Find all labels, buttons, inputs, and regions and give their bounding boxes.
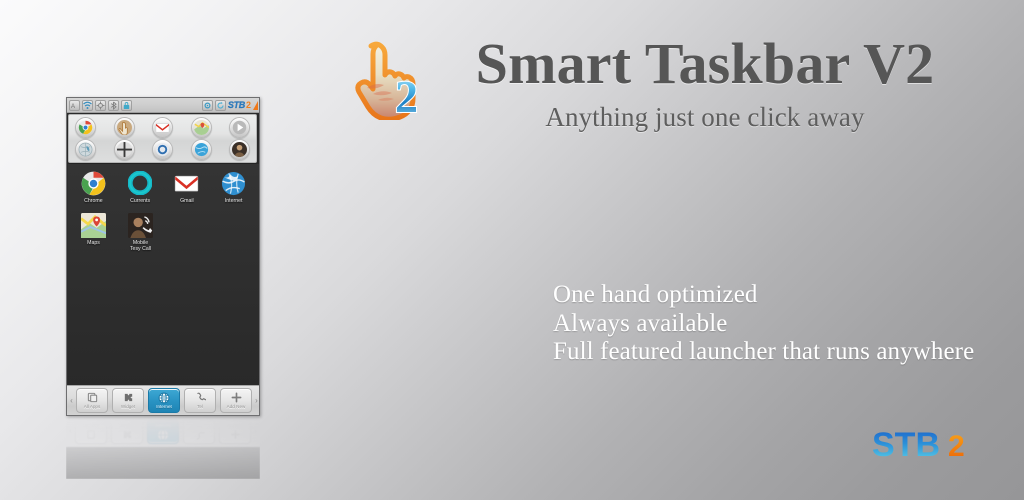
- internet-dock-button[interactable]: Internet: [148, 388, 180, 413]
- browser-icon[interactable]: [75, 139, 96, 160]
- reflection-arrow: ›: [252, 428, 259, 437]
- currents-app[interactable]: Currents: [117, 170, 164, 204]
- reflection-icon: [230, 429, 241, 442]
- feature-item: One hand optimized: [553, 281, 1013, 310]
- status-bar-left-icons: A: [69, 100, 132, 111]
- triangle-icon: [253, 101, 258, 110]
- app-label: Gmail: [180, 198, 194, 204]
- reflection-body: [66, 447, 260, 479]
- crosshair-icon[interactable]: [114, 139, 135, 160]
- dock-label: All Apps: [84, 404, 101, 410]
- contact-photo-icon[interactable]: [229, 139, 250, 160]
- promo-banner: 2 Smart Taskbar V2 Anything just one cli…: [0, 0, 1024, 500]
- smart-taskbar-panel: [68, 114, 257, 163]
- gmail-app-icon: [174, 170, 200, 196]
- app-label: Internet: [225, 198, 243, 204]
- chrome-icon[interactable]: [75, 117, 96, 138]
- reflection-icon: [86, 429, 97, 442]
- phone-mockup: A: [66, 97, 260, 416]
- internet-globe-icon: [158, 391, 170, 404]
- app-label: Chrome: [84, 198, 102, 204]
- reflection-dock-items: All Apps Widget: [74, 420, 252, 445]
- dock-label: Tel: [197, 404, 203, 410]
- plus-icon: [231, 391, 242, 404]
- reflection-dock-item: Widget: [111, 420, 143, 445]
- home-screen: Chrome Currents: [68, 164, 259, 387]
- gmail-icon[interactable]: [152, 117, 173, 138]
- reflection-label: Add New: [226, 423, 245, 429]
- hand-launcher-icon[interactable]: [114, 117, 135, 138]
- stb2-logo-main: STB: [872, 426, 940, 464]
- home-screen-row: Maps MobileTesy Call: [68, 212, 259, 252]
- reflection-arrow: ‹: [67, 428, 74, 437]
- status-bar: A: [67, 98, 260, 113]
- reflection-dock-item: Add New: [219, 420, 251, 445]
- svg-text:2: 2: [395, 71, 418, 120]
- refresh-icon[interactable]: [215, 100, 226, 111]
- chrome-app[interactable]: Chrome: [70, 170, 117, 204]
- add-new-dock-button[interactable]: Add New: [220, 388, 252, 413]
- usb-debug-icon: [95, 100, 106, 111]
- dock-label: Widget: [121, 404, 135, 410]
- maps-app-icon: [81, 212, 107, 238]
- dock: ‹ All Apps: [67, 385, 260, 415]
- reflection-label: Internet: [155, 423, 171, 429]
- dock-next-arrow[interactable]: ›: [253, 396, 260, 405]
- maps-icon[interactable]: [191, 117, 212, 138]
- title-block: Smart Taskbar V2 Anything just one click…: [435, 34, 975, 133]
- alarm-icon: A: [69, 100, 80, 111]
- gmail-app[interactable]: Gmail: [164, 170, 211, 204]
- maps-app[interactable]: Maps: [70, 212, 117, 252]
- reflection-label: Tel: [196, 423, 202, 429]
- chrome-app-icon: [80, 170, 106, 196]
- widget-dock-button[interactable]: Widget: [112, 388, 144, 413]
- stb2-statusbar-main: STB: [228, 100, 245, 110]
- taskbar-row: [72, 139, 253, 160]
- messaging-icon[interactable]: [152, 139, 173, 160]
- currents-app-icon: [127, 170, 153, 196]
- brand-header: 2 Smart Taskbar V2 Anything just one cli…: [340, 34, 980, 144]
- internet-icon[interactable]: [191, 139, 212, 160]
- feature-list: One hand optimized Always available Full…: [553, 281, 1013, 367]
- internet-app-icon: [221, 170, 247, 196]
- widget-puzzle-icon: [123, 391, 134, 404]
- reflection-icon: [157, 429, 169, 442]
- tel-dock-button[interactable]: Tel: [184, 388, 216, 413]
- all-apps-dock-button[interactable]: All Apps: [76, 388, 108, 413]
- mobile-tesy-call-app[interactable]: MobileTesy Call: [117, 212, 164, 252]
- app-label: Maps: [87, 240, 100, 246]
- app-label: Currents: [130, 198, 150, 204]
- app-tagline: Anything just one click away: [435, 102, 975, 133]
- reflection-icon: [194, 429, 205, 442]
- phone-handset-icon: [195, 391, 206, 404]
- reflection-label: Widget: [120, 423, 134, 429]
- app-label: MobileTesy Call: [130, 240, 151, 252]
- status-bar-right-icons: STB2: [202, 100, 259, 111]
- wifi-icon: [82, 100, 93, 111]
- stb2-logo-accent: 2: [948, 430, 965, 463]
- stb2-statusbar-accent: 2: [246, 100, 251, 110]
- mobile-tesy-call-app-icon: [128, 212, 154, 238]
- home-screen-row: Chrome Currents: [68, 170, 259, 204]
- reflection-dock-item: Internet: [147, 420, 179, 445]
- all-apps-icon: [87, 391, 98, 404]
- svg-text:A: A: [71, 104, 75, 110]
- reflection-label: All Apps: [83, 423, 100, 429]
- pointing-hand-v2-icon: 2: [343, 36, 427, 120]
- lock-icon: [121, 100, 132, 111]
- internet-app[interactable]: Internet: [210, 170, 257, 204]
- reflection-icon: [122, 429, 133, 442]
- dock-items: All Apps Widget: [75, 388, 253, 413]
- dock-label: Internet: [156, 404, 172, 410]
- phone-reflection: ‹ All Apps Widget: [66, 417, 260, 479]
- stb2-footer-logo: STB 2: [872, 426, 992, 466]
- feature-item: Always available: [553, 310, 1013, 339]
- stb2-statusbar-logo: STB2: [228, 100, 258, 110]
- dock-label: Add New: [227, 404, 246, 410]
- dock-prev-arrow[interactable]: ‹: [68, 396, 75, 405]
- reflection-dock-item: All Apps: [75, 420, 107, 445]
- app-title: Smart Taskbar V2: [435, 34, 975, 95]
- bluetooth-icon: [108, 100, 119, 111]
- settings-gear-icon[interactable]: [202, 100, 213, 111]
- reflection-dock-item: Tel: [183, 420, 215, 445]
- feature-item: Full featured launcher that runs anywher…: [553, 338, 1013, 367]
- reflection-dock: ‹ All Apps Widget: [66, 417, 260, 447]
- play-store-icon[interactable]: [229, 117, 250, 138]
- taskbar-row: [72, 117, 253, 138]
